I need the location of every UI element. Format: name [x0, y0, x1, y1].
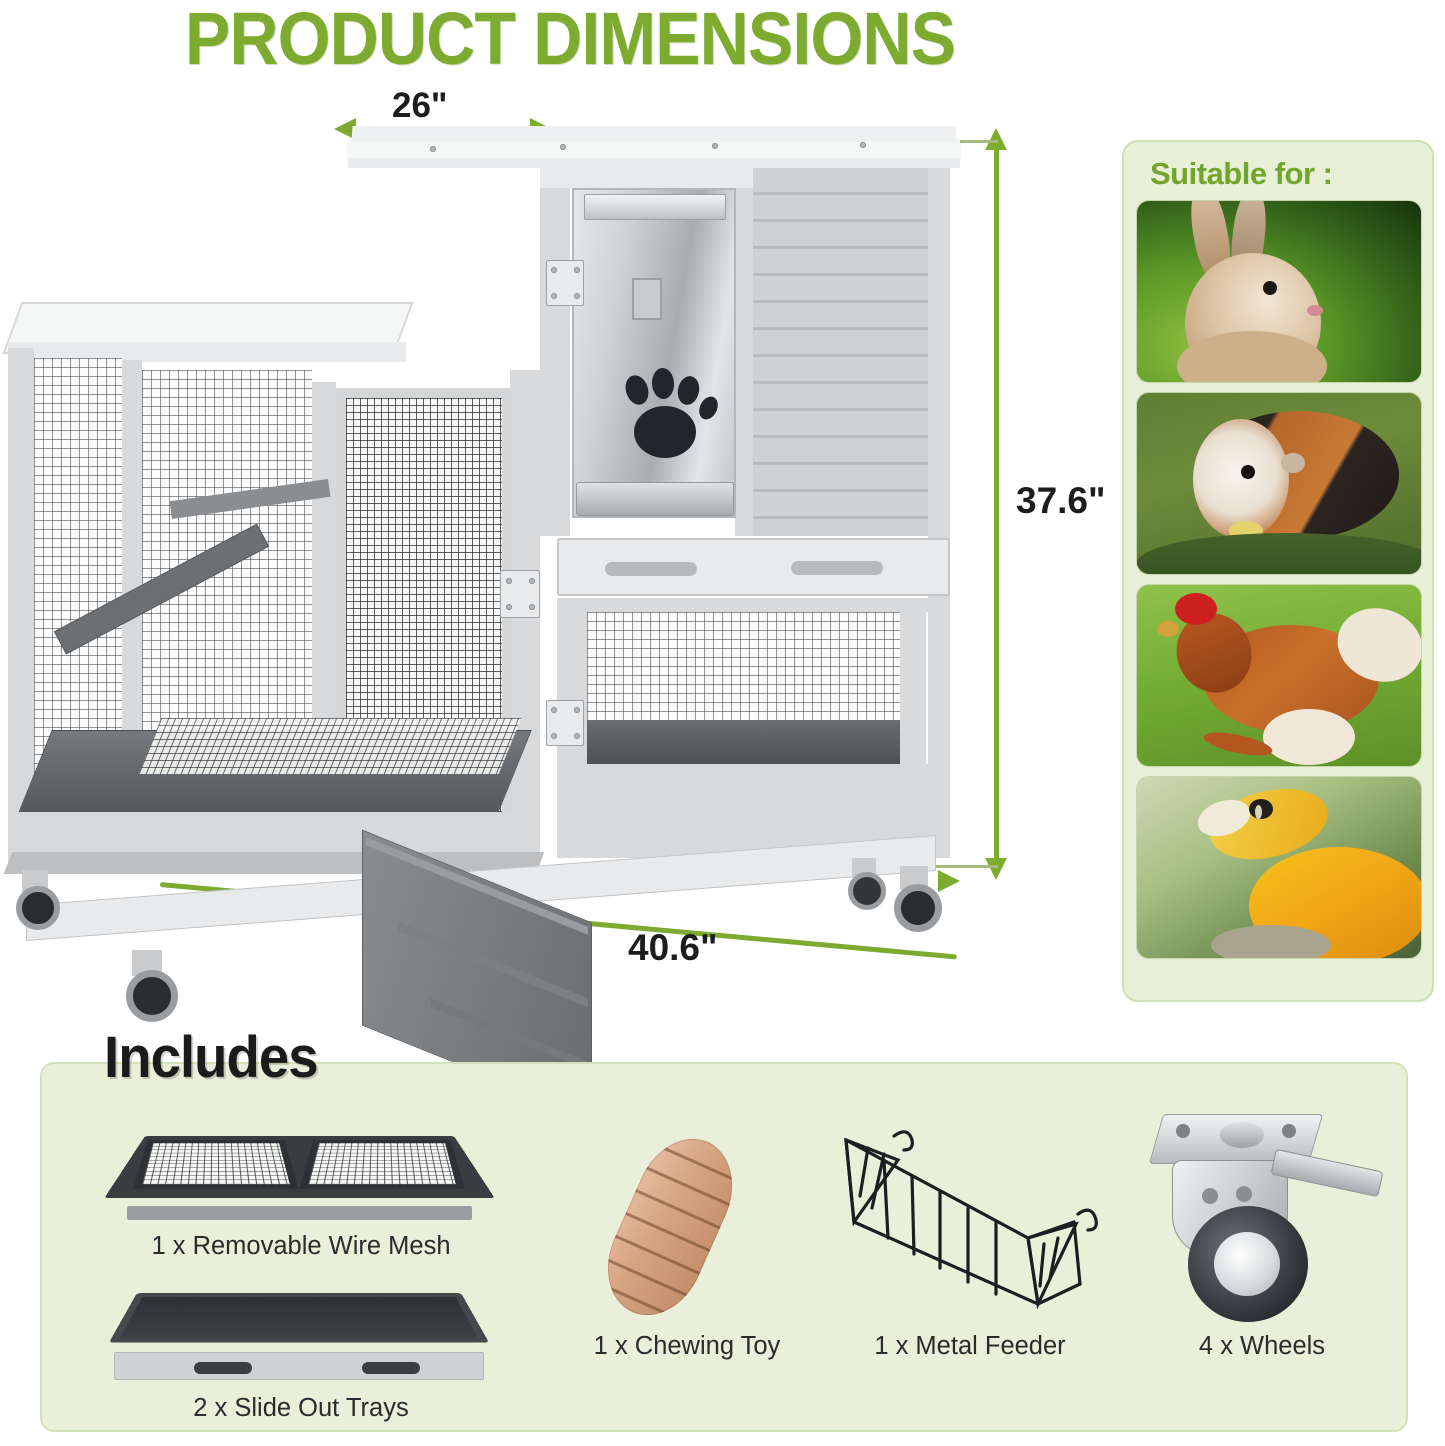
door-latch-slot — [632, 278, 662, 320]
run-post-right — [510, 370, 540, 870]
chicken-photo — [1136, 584, 1422, 767]
house-right-post — [928, 168, 950, 858]
roof-screw-1 — [430, 146, 436, 152]
caster-wheel-icon — [1132, 1114, 1392, 1324]
guinea-pig-photo — [1136, 392, 1422, 575]
includes-title: Includes — [104, 1024, 318, 1091]
house-lower-floor-tray — [587, 720, 900, 764]
metal-feeder-svg — [828, 1126, 1108, 1316]
roof-screw-3 — [712, 143, 718, 149]
includes-caption-wire-mesh: 1 x Removable Wire Mesh — [66, 1232, 536, 1261]
roof-screw-4 — [860, 142, 866, 148]
rabbit-photo — [1136, 200, 1422, 383]
hinge-upper-house — [546, 260, 584, 306]
includes-panel: 1 x Removable Wire Mesh 2 x Slide Out Tr… — [40, 1062, 1408, 1432]
roof-screw-2 — [560, 144, 566, 150]
roof-top-surface — [351, 126, 956, 142]
rabbit-hutch-illustration — [0, 70, 1000, 1025]
house-metal-door[interactable] — [572, 188, 736, 518]
includes-caption-slide-out-trays: 2 x Slide Out Trays — [66, 1394, 536, 1423]
roof-shadow — [348, 158, 960, 168]
run-bottom-board — [8, 812, 540, 852]
product-illustration-area: 26" 37.6" 40.6" — [0, 70, 1120, 1025]
wire-mesh-icon — [127, 1106, 472, 1221]
includes-caption-chewing-toy: 1 x Chewing Toy — [562, 1332, 812, 1361]
gecko-photo — [1136, 776, 1422, 959]
includes-caption-wheels: 4 x Wheels — [1122, 1332, 1402, 1361]
door-bottom-trim — [576, 482, 734, 516]
drawer-handle-right[interactable] — [791, 561, 883, 575]
chewing-toy-icon — [588, 1124, 778, 1314]
dimension-height-label: 37.6" — [1016, 480, 1106, 522]
hinge-lower-house — [546, 700, 584, 746]
product-dimensions-infographic: PRODUCT DIMENSIONS 26" 37.6" 40.6" — [0, 0, 1445, 1446]
pull-out-drawer[interactable] — [557, 538, 950, 596]
house-side-slats — [745, 168, 950, 536]
drawer-handle-left[interactable] — [605, 562, 697, 576]
run-floor-mesh — [139, 718, 522, 774]
house-front-post-left — [540, 168, 570, 536]
house-front-header — [540, 168, 753, 188]
hinge-run-door — [500, 570, 540, 618]
includes-caption-metal-feeder: 1 x Metal Feeder — [830, 1332, 1110, 1361]
door-top-trim — [584, 194, 726, 220]
house-lower-rail-top — [557, 598, 950, 612]
slide-out-tray-icon — [114, 1272, 484, 1384]
suitable-for-title: Suitable for : — [1150, 156, 1420, 192]
suitable-for-panel: Suitable for : — [1122, 140, 1434, 1002]
house-front-post-right — [735, 168, 753, 536]
metal-feeder-icon — [828, 1126, 1108, 1316]
page-title: PRODUCT DIMENSIONS — [46, 0, 1095, 81]
house-lower-mesh — [587, 612, 900, 734]
